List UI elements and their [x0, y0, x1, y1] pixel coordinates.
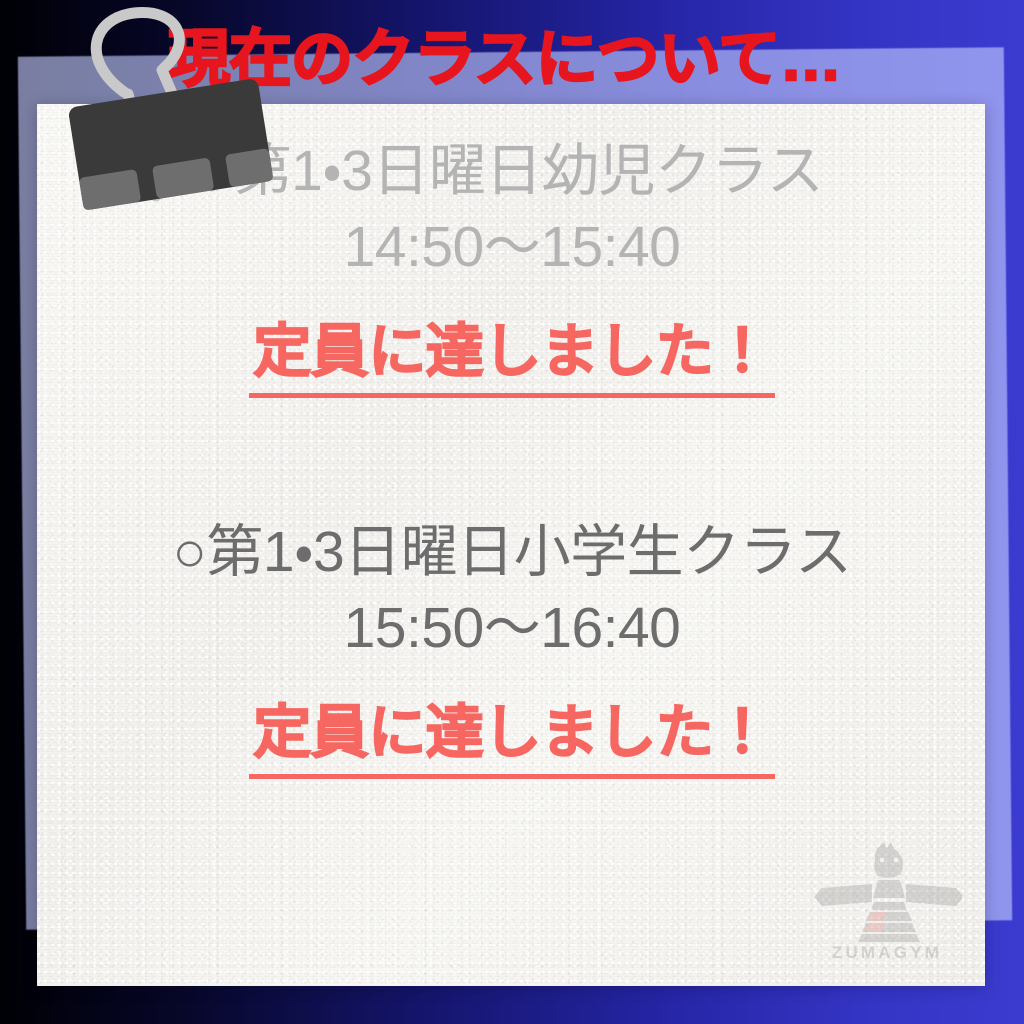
watermark-logo: ZUMAGYM — [812, 842, 962, 966]
status-badge-2: 定員に達しました！ — [249, 685, 775, 779]
class-time-1: 14:50〜15:40 — [0, 209, 1024, 285]
class-label-2: ○第1・3日曜日小学生クラス — [0, 514, 1024, 590]
watermark-brand: ZUMAGYM — [812, 943, 962, 963]
class-time-2: 15:50〜16:40 — [0, 590, 1024, 666]
notice-image: 現在のクラスについて… ○第1・3日曜日幼児クラス 14:50〜15:40 定員… — [0, 0, 1024, 1024]
class-block-2: ○第1・3日曜日小学生クラス 15:50〜16:40 定員に達しました！ — [0, 514, 1024, 779]
binder-clip-icon — [52, 0, 282, 215]
horse-gymnast-icon — [812, 842, 962, 942]
status-badge-1: 定員に達しました！ — [249, 304, 775, 398]
